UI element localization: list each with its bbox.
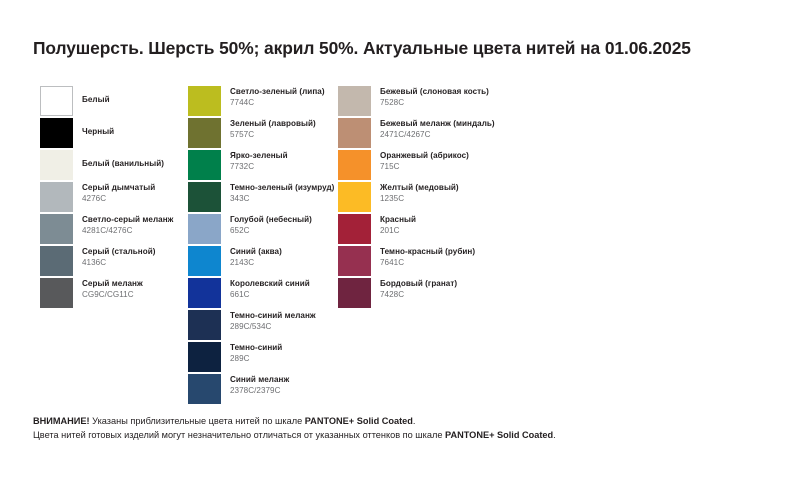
swatch-row[interactable]: Желтый (медовый)1235C <box>338 182 538 214</box>
color-swatch[interactable] <box>188 374 221 404</box>
swatch-name: Светло-зеленый (липа) <box>230 87 325 96</box>
disclaimer-line-1-text: Указаны приблизительные цвета нитей по ш… <box>90 416 305 426</box>
swatch-pantone-code: 1235C <box>380 194 459 203</box>
swatch-pantone-code: 652C <box>230 226 312 235</box>
disclaimer-line-1-end: . <box>413 416 416 426</box>
color-swatch[interactable] <box>40 182 73 212</box>
swatch-text-block: Белый <box>82 86 110 104</box>
swatch-name: Серый меланж <box>82 279 143 288</box>
swatch-pantone-code: 5757C <box>230 130 316 139</box>
swatch-pantone-code: 7744C <box>230 98 325 107</box>
swatch-row[interactable]: Оранжевый (абрикос)715C <box>338 150 538 182</box>
swatch-text-block: Голубой (небесный)652C <box>230 214 312 235</box>
swatch-text-block: Серый дымчатый4276C <box>82 182 155 203</box>
swatch-text-block: Красный201C <box>380 214 416 235</box>
swatch-name: Синий меланж <box>230 375 289 384</box>
swatch-text-block: Темно-красный (рубин)7641C <box>380 246 475 267</box>
swatch-name: Королевский синий <box>230 279 310 288</box>
swatch-text-block: Темно-синий меланж289C/534C <box>230 310 316 331</box>
swatch-pantone-code: 661C <box>230 290 310 299</box>
swatch-text-block: Черный <box>82 118 114 136</box>
swatch-name: Зеленый (лавровый) <box>230 119 316 128</box>
swatch-text-block: Оранжевый (абрикос)715C <box>380 150 469 171</box>
swatch-pantone-code: 7732C <box>230 162 288 171</box>
swatch-name: Белый <box>82 95 110 104</box>
swatch-row[interactable]: Белый (ванильный) <box>40 150 190 182</box>
color-swatch[interactable] <box>338 150 371 180</box>
swatch-pantone-code: 7641C <box>380 258 475 267</box>
attention-label: ВНИМАНИЕ! <box>33 416 90 426</box>
swatch-row[interactable]: Королевский синий661C <box>188 278 340 310</box>
swatch-name: Бордовый (гранат) <box>380 279 457 288</box>
swatch-text-block: Серый (стальной)4136C <box>82 246 156 267</box>
color-swatch[interactable] <box>188 150 221 180</box>
swatch-row[interactable]: Синий (аква)2143C <box>188 246 340 278</box>
swatch-text-block: Синий (аква)2143C <box>230 246 282 267</box>
swatch-text-block: Светло-зеленый (липа)7744C <box>230 86 325 107</box>
color-swatch[interactable] <box>338 182 371 212</box>
page-title: Полушерсть. Шерсть 50%; акрил 50%. Актуа… <box>33 38 773 59</box>
swatch-row[interactable]: Темно-красный (рубин)7641C <box>338 246 538 278</box>
color-swatch[interactable] <box>40 278 73 308</box>
swatch-name: Ярко-зеленый <box>230 151 288 160</box>
swatch-text-block: Темно-синий289C <box>230 342 282 363</box>
disclaimer-line-1: ВНИМАНИЕ! Указаны приблизительные цвета … <box>33 414 773 428</box>
swatch-name: Синий (аква) <box>230 247 282 256</box>
swatch-name: Светло-серый меланж <box>82 215 173 224</box>
swatch-row[interactable]: Серый меланжCG9C/CG11C <box>40 278 190 310</box>
disclaimer-line-2: Цвета нитей готовых изделий могут незнач… <box>33 428 773 442</box>
swatch-pantone-code: CG9C/CG11C <box>82 290 143 299</box>
swatch-pantone-code: 4276C <box>82 194 155 203</box>
swatch-row[interactable]: Ярко-зеленый7732C <box>188 150 340 182</box>
swatch-column-2: Светло-зеленый (липа)7744CЗеленый (лавро… <box>188 86 340 406</box>
swatch-row[interactable]: Темно-синий289C <box>188 342 340 374</box>
swatch-name: Серый дымчатый <box>82 183 155 192</box>
swatch-name: Красный <box>380 215 416 224</box>
swatch-name: Темно-синий <box>230 343 282 352</box>
color-swatch[interactable] <box>40 246 73 276</box>
swatch-text-block: Бордовый (гранат)7428C <box>380 278 457 299</box>
swatch-text-block: Желтый (медовый)1235C <box>380 182 459 203</box>
swatch-text-block: Зеленый (лавровый)5757C <box>230 118 316 139</box>
swatch-text-block: Серый меланжCG9C/CG11C <box>82 278 143 299</box>
color-swatch[interactable] <box>338 246 371 276</box>
swatch-name: Серый (стальной) <box>82 247 156 256</box>
swatch-pantone-code: 4136C <box>82 258 156 267</box>
swatch-pantone-code: 7528C <box>380 98 489 107</box>
swatch-name: Черный <box>82 127 114 136</box>
swatch-pantone-code: 289C <box>230 354 282 363</box>
color-swatch[interactable] <box>188 182 221 212</box>
swatch-name: Желтый (медовый) <box>380 183 459 192</box>
color-swatch[interactable] <box>40 214 73 244</box>
pantone-brand-2: PANTONE+ Solid Coated <box>445 430 553 440</box>
swatch-text-block: Королевский синий661C <box>230 278 310 299</box>
swatch-pantone-code: 715C <box>380 162 469 171</box>
color-swatch[interactable] <box>188 246 221 276</box>
color-swatch[interactable] <box>338 278 371 308</box>
swatch-name: Темно-зеленый (изумруд) <box>230 183 334 192</box>
swatch-name: Бежевый (слоновая кость) <box>380 87 489 96</box>
swatch-row[interactable]: Синий меланж2378C/2379C <box>188 374 340 406</box>
color-swatch[interactable] <box>40 150 73 180</box>
swatch-row[interactable]: Темно-синий меланж289C/534C <box>188 310 340 342</box>
swatch-text-block: Бежевый (слоновая кость)7528C <box>380 86 489 107</box>
color-swatch[interactable] <box>188 118 221 148</box>
color-swatch[interactable] <box>188 214 221 244</box>
swatch-row[interactable]: Серый дымчатый4276C <box>40 182 190 214</box>
color-swatch[interactable] <box>338 214 371 244</box>
color-swatch[interactable] <box>40 86 73 116</box>
swatch-text-block: Ярко-зеленый7732C <box>230 150 288 171</box>
swatch-pantone-code: 289C/534C <box>230 322 316 331</box>
swatch-row[interactable]: Белый <box>40 86 190 118</box>
swatch-row[interactable]: Светло-серый меланж4281C/4276C <box>40 214 190 246</box>
color-chart-page: Полушерсть. Шерсть 50%; акрил 50%. Актуа… <box>0 0 800 487</box>
swatch-column-3: Бежевый (слоновая кость)7528CБежевый мел… <box>338 86 538 310</box>
swatch-text-block: Светло-серый меланж4281C/4276C <box>82 214 173 235</box>
swatch-row[interactable]: Голубой (небесный)652C <box>188 214 340 246</box>
swatch-pantone-code: 4281C/4276C <box>82 226 173 235</box>
swatch-name: Белый (ванильный) <box>82 159 164 168</box>
swatch-pantone-code: 7428C <box>380 290 457 299</box>
disclaimer-line-2-text: Цвета нитей готовых изделий могут незнач… <box>33 430 445 440</box>
swatch-text-block: Синий меланж2378C/2379C <box>230 374 289 395</box>
swatch-text-block: Бежевый меланж (миндаль)2471C/4267C <box>380 118 495 139</box>
swatch-pantone-code: 343C <box>230 194 334 203</box>
swatch-row[interactable]: Светло-зеленый (липа)7744C <box>188 86 340 118</box>
swatch-row[interactable]: Бежевый меланж (миндаль)2471C/4267C <box>338 118 538 150</box>
swatch-pantone-code: 2143C <box>230 258 282 267</box>
swatch-row[interactable]: Серый (стальной)4136C <box>40 246 190 278</box>
swatch-name: Темно-синий меланж <box>230 311 316 320</box>
swatch-name: Темно-красный (рубин) <box>380 247 475 256</box>
disclaimer-footer: ВНИМАНИЕ! Указаны приблизительные цвета … <box>33 414 773 443</box>
swatch-text-block: Белый (ванильный) <box>82 150 164 168</box>
pantone-brand-1: PANTONE+ Solid Coated <box>305 416 413 426</box>
color-swatch[interactable] <box>188 310 221 340</box>
color-swatch[interactable] <box>40 118 73 148</box>
swatch-name: Оранжевый (абрикос) <box>380 151 469 160</box>
color-swatch[interactable] <box>188 342 221 372</box>
color-swatch[interactable] <box>188 86 221 116</box>
swatch-row[interactable]: Бежевый (слоновая кость)7528C <box>338 86 538 118</box>
swatch-pantone-code: 2471C/4267C <box>380 130 495 139</box>
swatch-row[interactable]: Темно-зеленый (изумруд)343C <box>188 182 340 214</box>
swatch-row[interactable]: Бордовый (гранат)7428C <box>338 278 538 310</box>
swatch-row[interactable]: Черный <box>40 118 190 150</box>
swatch-row[interactable]: Красный201C <box>338 214 538 246</box>
swatch-name: Голубой (небесный) <box>230 215 312 224</box>
swatch-row[interactable]: Зеленый (лавровый)5757C <box>188 118 340 150</box>
swatch-pantone-code: 2378C/2379C <box>230 386 289 395</box>
color-swatch[interactable] <box>338 118 371 148</box>
swatch-column-1: БелыйЧерныйБелый (ванильный)Серый дымчат… <box>40 86 190 310</box>
disclaimer-line-2-end: . <box>553 430 556 440</box>
color-swatch[interactable] <box>338 86 371 116</box>
swatch-text-block: Темно-зеленый (изумруд)343C <box>230 182 334 203</box>
swatch-pantone-code: 201C <box>380 226 416 235</box>
swatch-name: Бежевый меланж (миндаль) <box>380 119 495 128</box>
color-swatch[interactable] <box>188 278 221 308</box>
